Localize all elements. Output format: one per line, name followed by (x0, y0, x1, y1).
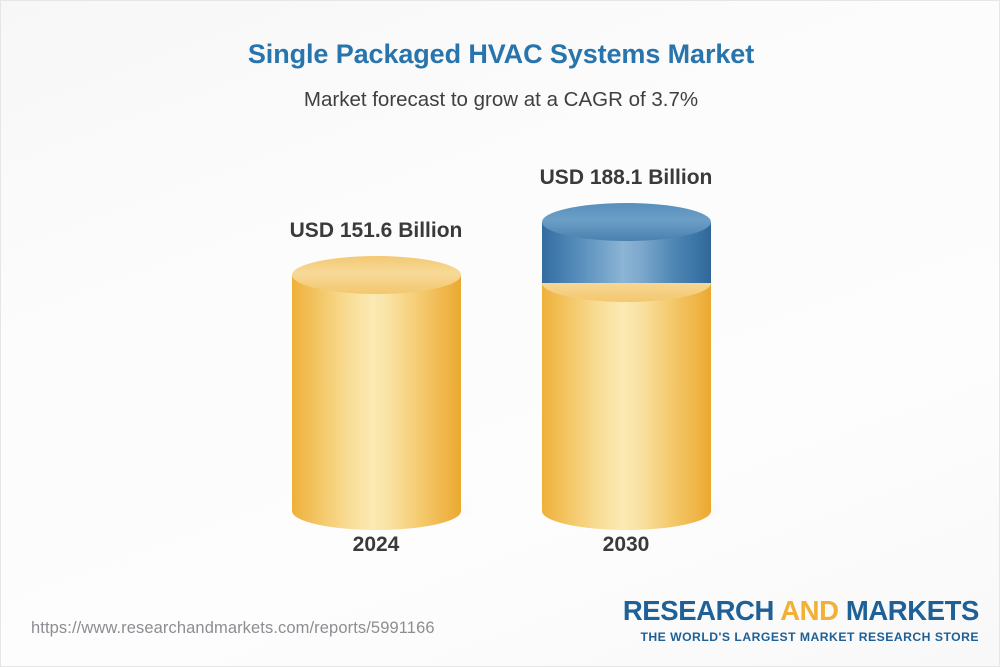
logo-word-and: AND (780, 595, 846, 626)
bar-segment-base-2024 (292, 256, 461, 511)
chart-subtitle: Market forecast to grow at a CAGR of 3.7… (1, 88, 1000, 112)
chart-title: Single Packaged HVAC Systems Market (1, 39, 1000, 70)
chart-canvas: Single Packaged HVAC Systems Market Mark… (0, 0, 1000, 667)
cylinder-top-ellipse (542, 203, 711, 241)
logo-word-markets: MARKETS (846, 595, 979, 626)
bar-segment-growth-2030 (542, 203, 711, 283)
bar-2030 (542, 203, 711, 511)
cylinder-top-ellipse (292, 256, 461, 294)
logo-word-research: RESEARCH (623, 595, 780, 626)
logo-wordmark: RESEARCH AND MARKETS (623, 595, 979, 627)
cylinder-body (292, 275, 461, 511)
cylinder-body (542, 283, 711, 511)
value-label-2024: USD 151.6 Billion (216, 219, 536, 243)
logo-tagline: THE WORLD'S LARGEST MARKET RESEARCH STOR… (623, 630, 979, 644)
category-label-2030: 2030 (506, 533, 746, 557)
bar-segment-base-2030 (542, 264, 711, 511)
source-url[interactable]: https://www.researchandmarkets.com/repor… (31, 619, 435, 638)
value-label-2030: USD 188.1 Billion (466, 166, 786, 190)
bar-2024 (292, 256, 461, 511)
category-label-2024: 2024 (256, 533, 496, 557)
brand-logo: RESEARCH AND MARKETS THE WORLD'S LARGEST… (623, 595, 979, 644)
